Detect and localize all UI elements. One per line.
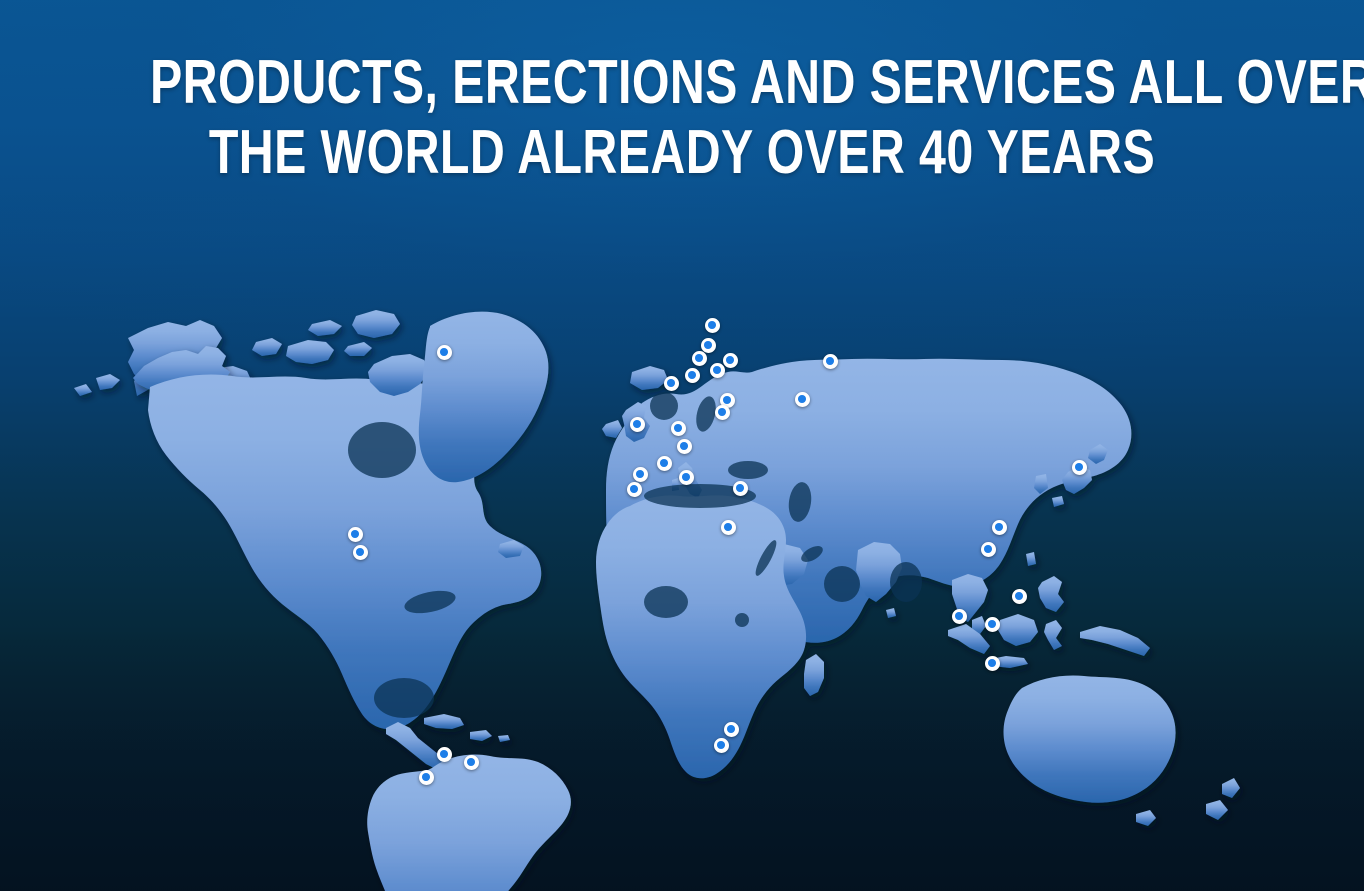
slide-canvas: PRODUCTS, ERECTIONS AND SERVICES ALL OVE… bbox=[0, 0, 1364, 891]
land-puerto-rico bbox=[498, 735, 510, 742]
marker-russia-central[interactable] bbox=[795, 392, 810, 407]
marker-russia-ural[interactable] bbox=[823, 354, 838, 369]
marker-turkey[interactable] bbox=[733, 481, 748, 496]
land-south-america bbox=[367, 755, 571, 891]
lake-victoria bbox=[735, 613, 749, 627]
gulf-of-guinea bbox=[644, 586, 688, 618]
land-hispaniola bbox=[470, 730, 492, 741]
marker-china-south[interactable] bbox=[981, 542, 996, 557]
land-cuba bbox=[424, 714, 464, 729]
land-iceland bbox=[630, 366, 668, 390]
land-philippines bbox=[1038, 576, 1064, 612]
marker-japan[interactable] bbox=[1072, 460, 1087, 475]
marker-south-africa-sw[interactable] bbox=[714, 738, 729, 753]
marker-norway-north[interactable] bbox=[705, 318, 720, 333]
world-map bbox=[0, 150, 1364, 891]
land-madagascar bbox=[804, 654, 824, 696]
marker-north-africa[interactable] bbox=[721, 520, 736, 535]
land-victoria-island bbox=[286, 340, 334, 364]
marker-argentina-west[interactable] bbox=[437, 747, 452, 762]
land-new-guinea bbox=[1080, 626, 1150, 656]
land-sulawesi bbox=[1044, 620, 1062, 650]
marker-south-africa-ne[interactable] bbox=[724, 722, 739, 737]
land-new-zealand-north bbox=[1222, 778, 1240, 798]
north-sea bbox=[650, 392, 678, 420]
world-map-svg bbox=[0, 150, 1364, 891]
marker-china-east[interactable] bbox=[992, 520, 1007, 535]
land-central-america bbox=[386, 722, 444, 770]
marker-uruguay[interactable] bbox=[464, 755, 479, 770]
marker-portugal[interactable] bbox=[627, 482, 642, 497]
marker-mexico-south[interactable] bbox=[353, 545, 368, 560]
marker-iceland[interactable] bbox=[664, 376, 679, 391]
marker-thailand[interactable] bbox=[952, 609, 967, 624]
land-sri-lanka bbox=[886, 608, 896, 618]
marker-indonesia[interactable] bbox=[985, 656, 1000, 671]
marker-chile[interactable] bbox=[419, 770, 434, 785]
marker-austria[interactable] bbox=[657, 456, 672, 471]
land-taiwan bbox=[1026, 552, 1036, 566]
land-borneo bbox=[998, 614, 1038, 646]
marker-sweden-mid[interactable] bbox=[710, 363, 725, 378]
marker-norway-mid[interactable] bbox=[692, 351, 707, 366]
marker-france[interactable] bbox=[633, 467, 648, 482]
land-greenland bbox=[419, 312, 549, 483]
bay-of-bengal bbox=[890, 562, 922, 602]
land-kyushu bbox=[1052, 496, 1064, 507]
land-arctic-isle-1 bbox=[308, 320, 342, 336]
gulf-of-mexico bbox=[374, 678, 434, 718]
land-new-zealand-south bbox=[1206, 800, 1228, 820]
land-arctic-isle-2 bbox=[344, 342, 372, 356]
page-title: PRODUCTS, ERECTIONS AND SERVICES ALL OVE… bbox=[0, 48, 1364, 188]
black-sea bbox=[728, 461, 768, 479]
marker-norway-south[interactable] bbox=[685, 368, 700, 383]
marker-philippines[interactable] bbox=[1012, 589, 1027, 604]
marker-italy-north[interactable] bbox=[679, 470, 694, 485]
land-australia bbox=[1004, 676, 1176, 803]
marker-greenland[interactable] bbox=[437, 345, 452, 360]
land-tasmania bbox=[1136, 810, 1156, 826]
marker-poland[interactable] bbox=[677, 439, 692, 454]
marker-malaysia[interactable] bbox=[985, 617, 1000, 632]
land-africa bbox=[596, 495, 806, 778]
land-aleutians bbox=[96, 374, 120, 390]
hudson-bay bbox=[348, 422, 416, 478]
title-line-2: THE WORLD ALREADY OVER 40 YEARS bbox=[150, 118, 1214, 188]
title-line-1: PRODUCTS, ERECTIONS AND SERVICES ALL OVE… bbox=[150, 48, 1214, 118]
marker-finland[interactable] bbox=[723, 353, 738, 368]
land-banks-island bbox=[252, 338, 282, 356]
land-ellesmere bbox=[352, 310, 400, 338]
marker-mexico-north[interactable] bbox=[348, 527, 363, 542]
marker-denmark[interactable] bbox=[671, 421, 686, 436]
land-aleutians-2 bbox=[74, 384, 92, 396]
marker-sweden-north[interactable] bbox=[701, 338, 716, 353]
marker-baltic-south[interactable] bbox=[715, 405, 730, 420]
arabian-sea bbox=[824, 566, 860, 602]
marker-united-kingdom[interactable] bbox=[630, 417, 645, 432]
